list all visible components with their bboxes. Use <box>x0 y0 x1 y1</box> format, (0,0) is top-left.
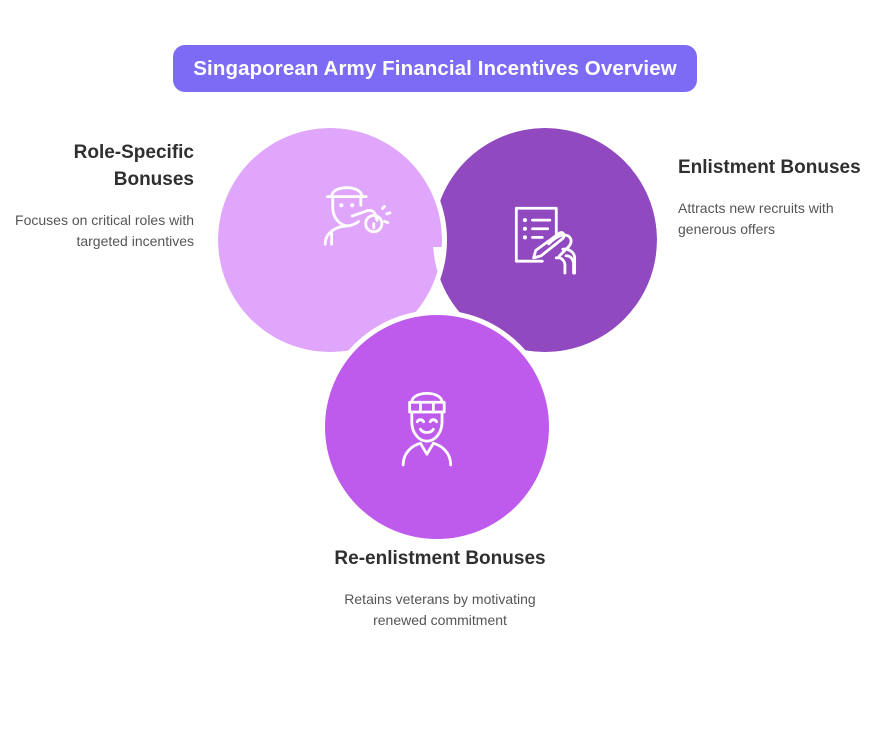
diagram-canvas: Singaporean Army Financial Incentives Ov… <box>0 0 873 738</box>
venn-circle-enlistment[interactable] <box>433 128 657 352</box>
label-role-specific-description: Focuses on critical roles with targeted … <box>12 210 194 253</box>
label-enlistment-description: Attracts new recruits with generous offe… <box>678 198 863 241</box>
label-enlistment-title: Enlistment Bonuses <box>678 155 863 182</box>
label-re-enlistment: Re-enlistment Bonuses Retains veterans b… <box>325 546 555 632</box>
label-role-specific: Role-Specific Bonuses Focuses on critica… <box>12 140 194 252</box>
venn-diagram <box>210 100 670 540</box>
venn-circle-re-enlistment[interactable] <box>325 315 549 539</box>
title-banner: Singaporean Army Financial Incentives Ov… <box>173 45 697 92</box>
page-title: Singaporean Army Financial Incentives Ov… <box>193 57 677 81</box>
label-enlistment: Enlistment Bonuses Attracts new recruits… <box>678 155 863 241</box>
label-re-enlistment-description: Retains veterans by motivating renewed c… <box>325 589 555 632</box>
label-role-specific-title: Role-Specific Bonuses <box>12 140 194 194</box>
venn-circle-role-specific[interactable] <box>218 128 442 352</box>
label-re-enlistment-title: Re-enlistment Bonuses <box>325 546 555 573</box>
